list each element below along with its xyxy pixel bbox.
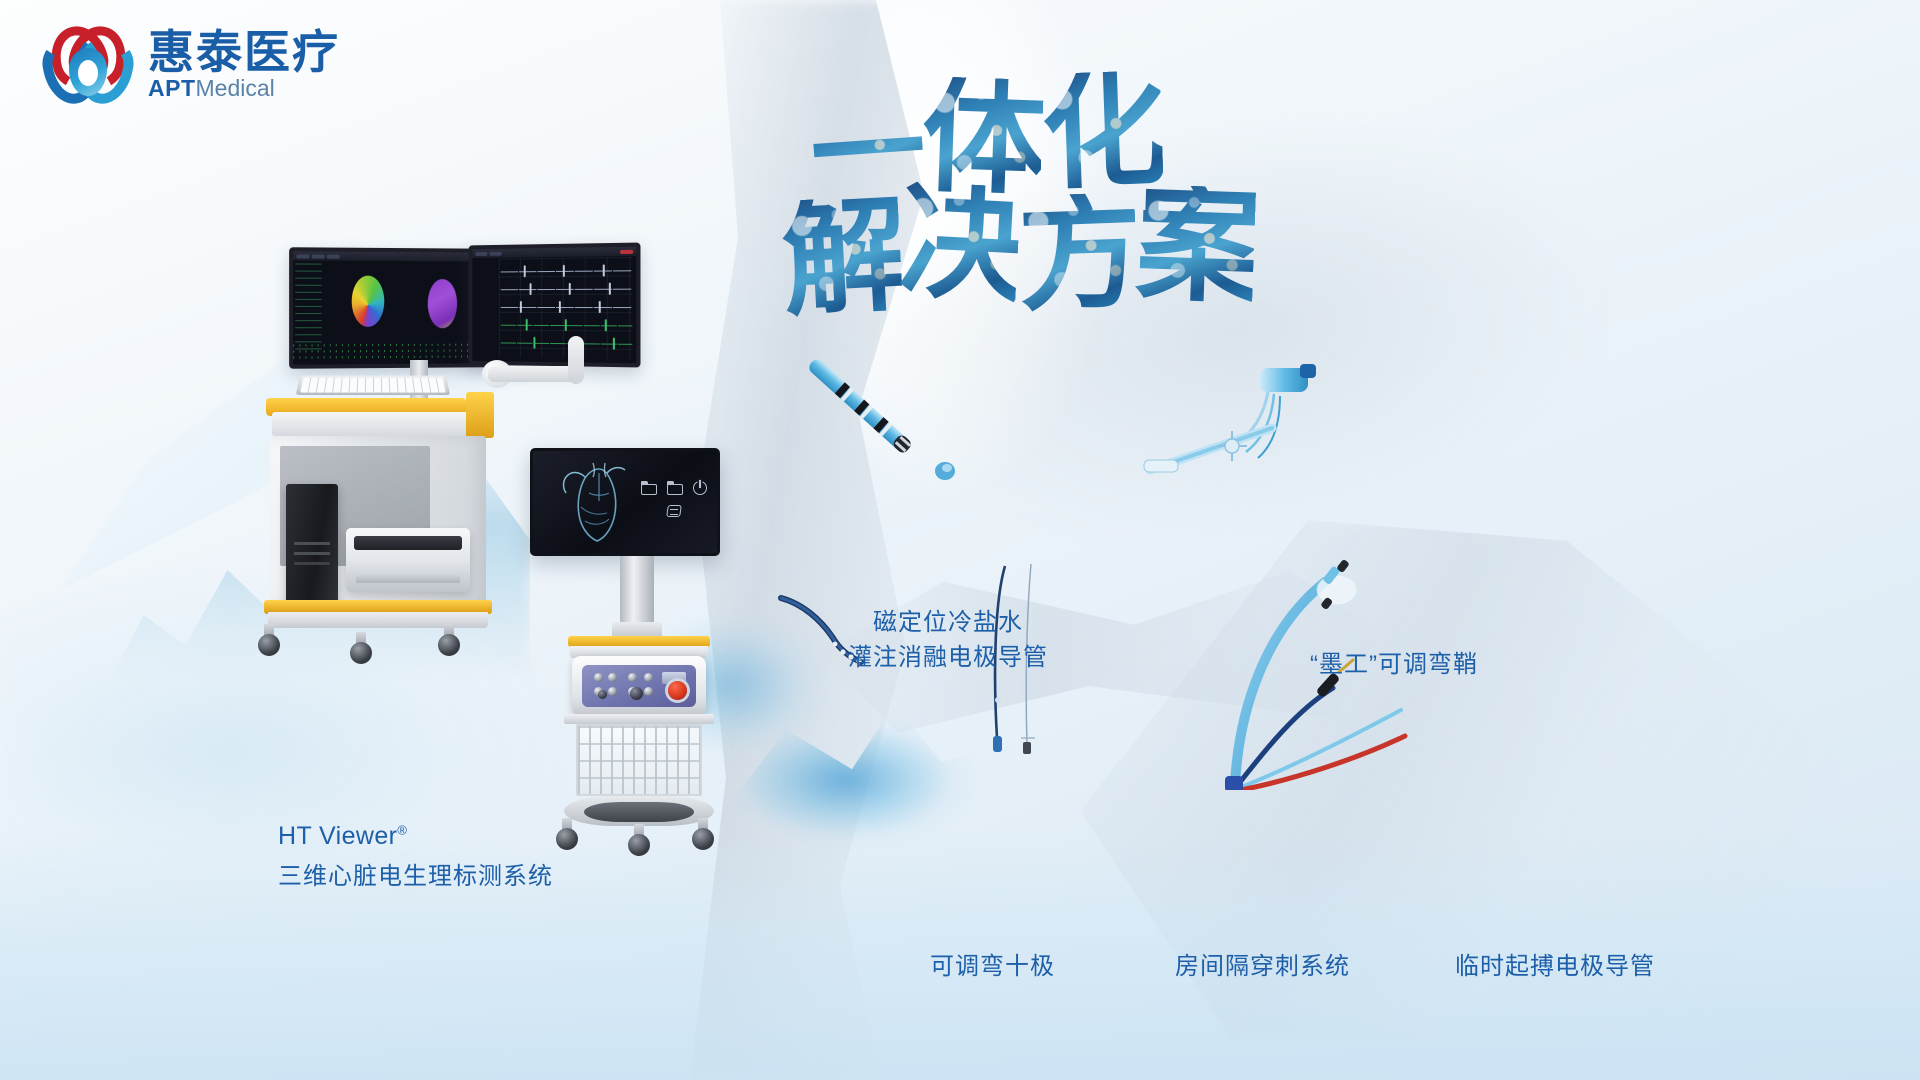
headline-line-2: 解决方案 [782,188,1254,306]
brand-name-en-light: Medical [196,75,275,101]
emergency-stop-button[interactable] [668,681,687,700]
cart-caster [690,818,716,852]
folder-icon[interactable] [667,481,683,495]
heart-map-activation [346,274,390,336]
product-label-line1: 可调弯十极 [930,950,1055,985]
cart-caster [256,624,282,658]
product-label-line1: 临时起搏电极导管 [1455,950,1655,985]
system-label: HT Viewer® 三维心脏电生理标测系统 [278,818,553,895]
cart-caster [436,624,462,658]
headline-glyph: 案 [1134,184,1256,306]
brand-name-en: APTMedical [148,77,340,100]
heart-map-voltage [422,276,463,336]
background-blue-splash [720,690,1020,870]
brand-wordmark: 惠泰医疗 APTMedical [148,29,340,100]
computer-tower [286,484,338,604]
storage-basket [576,724,702,796]
product-label-steerable-sheath: “墨工”可调弯鞘 [1310,648,1478,683]
product-label-line2: 灌注消融电极导管 [848,641,1048,676]
network-icon[interactable] [666,504,682,518]
folder-add-icon[interactable] [641,481,657,495]
heart-anatomy-render [555,459,641,551]
headline-calligraphy: 一体化 解决方案 [960,38,1600,338]
product-label-line1: “墨工”可调弯鞘 [1310,648,1478,683]
headline-glyph: 决 [897,181,1021,305]
ablation-catheter-icon [800,358,960,488]
monitor-arm-vertical [568,336,584,384]
display-control-icons [641,481,707,518]
brand-logo: 惠泰医疗 APTMedical [42,22,340,106]
cart-foot-dark [584,802,694,822]
printer [346,528,470,592]
product-label-decapolar: 可调弯十极 [930,950,1055,985]
headline-glyph: 解 [780,195,904,319]
rf-generator-unit [572,656,706,716]
cart-top-shelf [272,412,472,436]
poster-canvas: 惠泰医疗 APTMedical 一体化 解决方案 [0,0,1920,1080]
brand-name-cn: 惠泰医疗 [148,29,340,75]
product-label-line1: 房间隔穿刺系统 [1175,950,1350,985]
rf-generator-cart [540,556,740,856]
cart-caster [554,818,580,852]
cart-caster [626,824,652,858]
product-label-ablation-catheter: 磁定位冷盐水 灌注消融电极导管 [848,606,1048,676]
3d-mapping-monitor [289,247,488,369]
product-label-pacing-catheter: 临时起搏电极导管 [1455,950,1655,985]
keyboard[interactable] [296,376,450,395]
system-label-en: HT Viewer® [278,818,553,854]
heart-display-monitor [530,448,720,556]
cart-caster [348,632,374,666]
ecg-recording-monitor [469,243,641,368]
display-column [620,556,654,630]
apt-medical-logo-icon [42,22,134,106]
system-label-cn: 三维心脏电生理标测系统 [278,860,553,895]
trademark-symbol: ® [397,823,407,838]
steerable-sheath-icon [1140,362,1350,502]
product-label-transseptal: 房间隔穿刺系统 [1175,950,1350,985]
power-icon[interactable] [693,481,707,495]
product-label-line1: 磁定位冷盐水 [848,606,1048,641]
headline-glyph: 方 [1016,192,1138,314]
connector-panel [582,665,696,707]
cart-side-rail [466,392,494,438]
generator-shelf [564,714,714,724]
brand-name-en-bold: APT [148,75,196,101]
